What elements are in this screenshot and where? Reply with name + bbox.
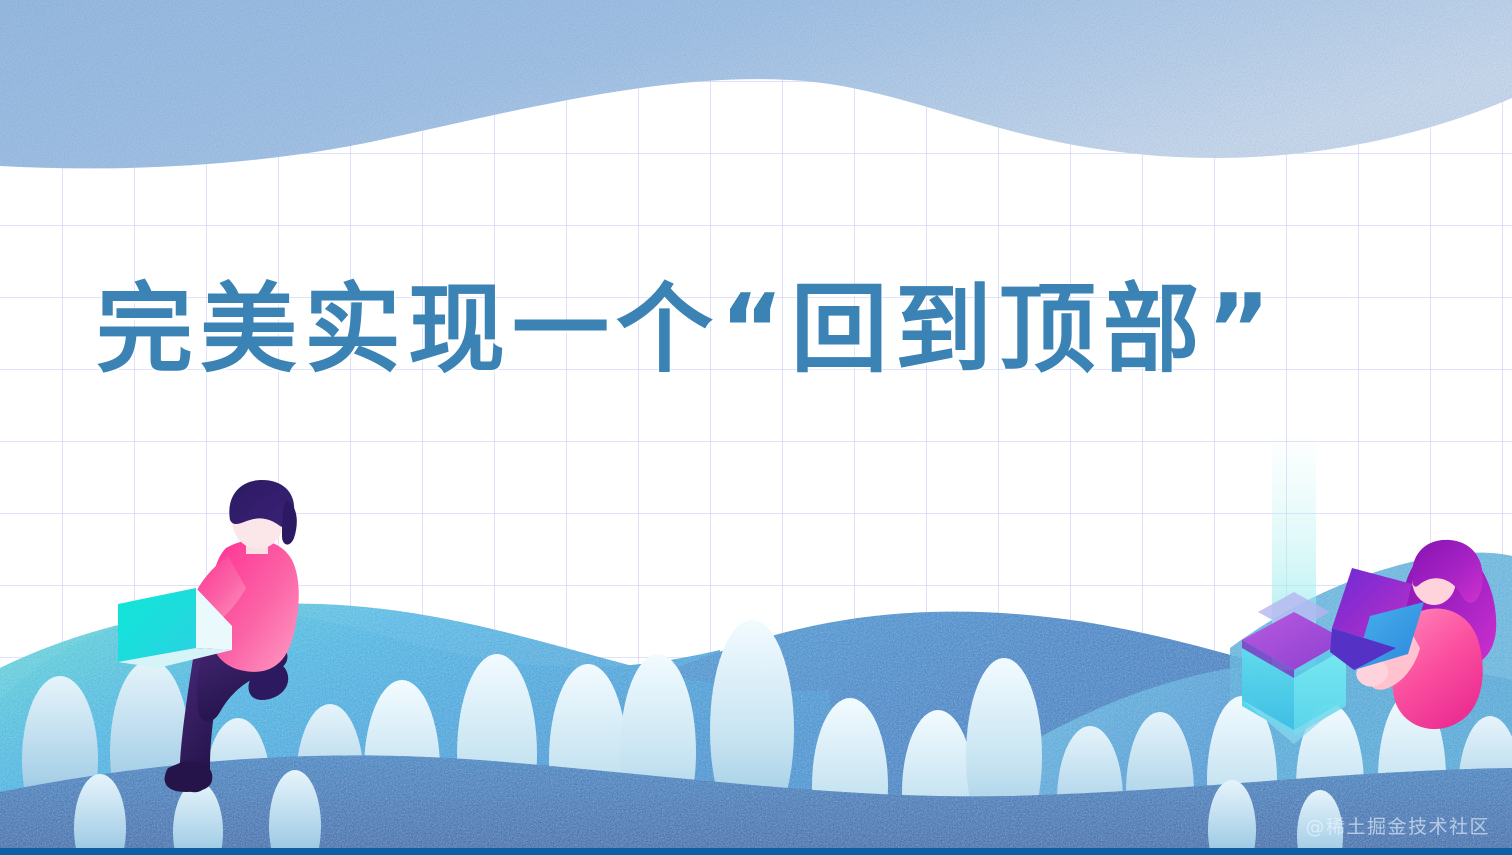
iso-cube (1242, 592, 1346, 744)
cover-banner: 完美实现一个“回到顶部” (0, 0, 1512, 855)
watermark: @稀土掘金技术社区 (1305, 812, 1490, 839)
man-with-laptop (118, 480, 299, 792)
woman-with-laptop (1330, 540, 1496, 729)
illustration-characters (0, 0, 1512, 855)
